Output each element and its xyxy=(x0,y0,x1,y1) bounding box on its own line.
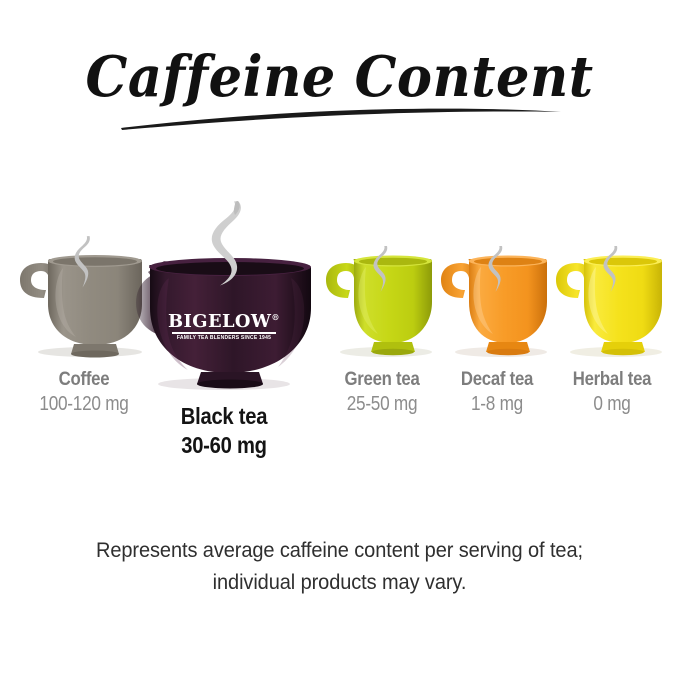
decaf-tea-cup-art xyxy=(433,196,561,362)
decaf-tea-amount: 1-8 mg xyxy=(442,391,552,417)
herbal-tea-cup-art xyxy=(548,196,676,362)
decaf-tea-name: Decaf tea xyxy=(442,368,552,391)
cup-item-decaf-tea: Decaf tea 1-8 mg xyxy=(433,196,561,362)
page-title: Caffeine Content xyxy=(20,44,658,110)
footnote-line-2: individual products may vary. xyxy=(24,566,655,598)
herbal-tea-cup-icon xyxy=(548,196,676,362)
green-tea-name: Green tea xyxy=(327,368,437,391)
cup-item-herbal-tea: Herbal tea 0 mg xyxy=(548,196,676,362)
cup-row: Coffee 100-120 mg xyxy=(0,196,679,496)
title-block: Caffeine Content xyxy=(0,44,679,144)
black-tea-name: Black tea xyxy=(141,402,306,430)
cup-item-black-tea: BIGELOW® FAMILY TEA BLENDERS SINCE 1945 … xyxy=(128,196,320,394)
green-tea-amount: 25-50 mg xyxy=(327,391,437,417)
footnote: Represents average caffeine content per … xyxy=(0,534,679,598)
footnote-line-1: Represents average caffeine content per … xyxy=(24,534,655,566)
green-tea-cup-icon xyxy=(318,196,446,362)
green-tea-cup-art xyxy=(318,196,446,362)
cup-item-green-tea: Green tea 25-50 mg xyxy=(318,196,446,362)
black-tea-cup-art: BIGELOW® FAMILY TEA BLENDERS SINCE 1945 xyxy=(128,196,320,394)
decaf-tea-cup-icon xyxy=(433,196,561,362)
herbal-tea-name: Herbal tea xyxy=(557,368,667,391)
black-tea-label: Black tea 30-60 mg xyxy=(128,402,320,461)
herbal-tea-amount: 0 mg xyxy=(557,391,667,417)
black-tea-amount: 30-60 mg xyxy=(141,430,306,461)
black-tea-mug-icon xyxy=(128,196,320,394)
herbal-tea-label: Herbal tea 0 mg xyxy=(548,368,676,417)
green-tea-label: Green tea 25-50 mg xyxy=(318,368,446,417)
decaf-tea-label: Decaf tea 1-8 mg xyxy=(433,368,561,417)
